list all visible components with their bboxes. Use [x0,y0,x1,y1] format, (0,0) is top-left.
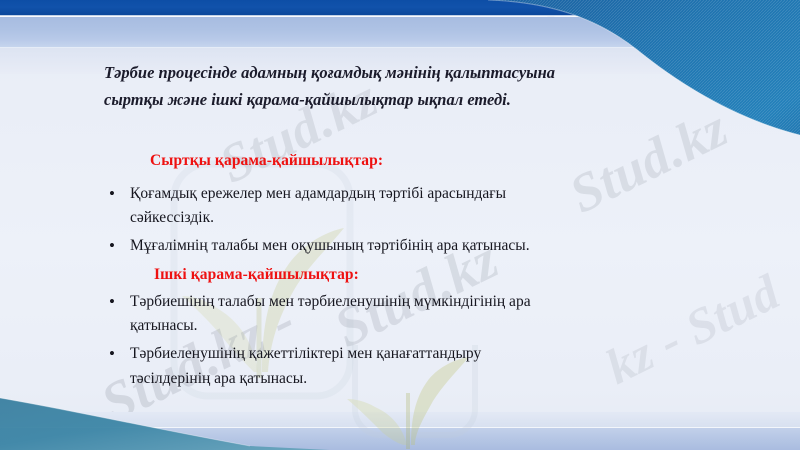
external-contradictions-list: Қоғамдық ережелер мен адамдардың тәртібі… [0,182,800,263]
list-item: Тәрбиешінің талабы мен тәрбиеленушінің м… [104,290,740,338]
slide-title-line-1: Тәрбие процесінде адамның қоғамдық мәнін… [104,60,714,87]
list-item-text: Қоғамдық ережелер мен адамдардың тәртібі… [130,185,506,202]
slide-title-line-2: сыртқы және ішкі қарама-қайшылықтар ықпа… [104,87,714,114]
heading-internal-contradictions: Ішкі қарама-қайшылықтар: [154,266,574,284]
list-item-text-tail: қатынасы. [130,314,740,338]
list-item-text-tail: тәсілдерінің ара қатынасы. [130,367,740,391]
list-item: Тәрбиеленушінің қажеттіліктері мен қанағ… [104,342,740,390]
list-item: Мұғалімнің талабы мен оқушының тәртібіні… [104,234,740,258]
list-item-text: Тәрбиешінің талабы мен тәрбиеленушінің м… [130,293,531,310]
slide-title: Тәрбие процесінде адамның қоғамдық мәнін… [104,60,714,113]
list-item-text-tail: сәйкессіздік. [130,206,740,230]
internal-contradictions-list: Тәрбиешінің талабы мен тәрбиеленушінің м… [0,290,800,395]
heading-external-contradictions: Сыртқы қарама-қайшылықтар: [150,152,570,170]
list-item: Қоғамдық ережелер мен адамдардың тәртібі… [104,182,740,230]
slide-canvas: Stud.kz - Stud.kz Stud.kz Stud.kz Stud.k… [0,0,800,450]
list-item-text: Мұғалімнің талабы мен оқушының тәртібіні… [130,237,530,254]
slide-content: Тәрбие процесінде адамның қоғамдық мәнін… [0,0,800,450]
list-item-text: Тәрбиеленушінің қажеттіліктері мен қанағ… [130,345,481,362]
